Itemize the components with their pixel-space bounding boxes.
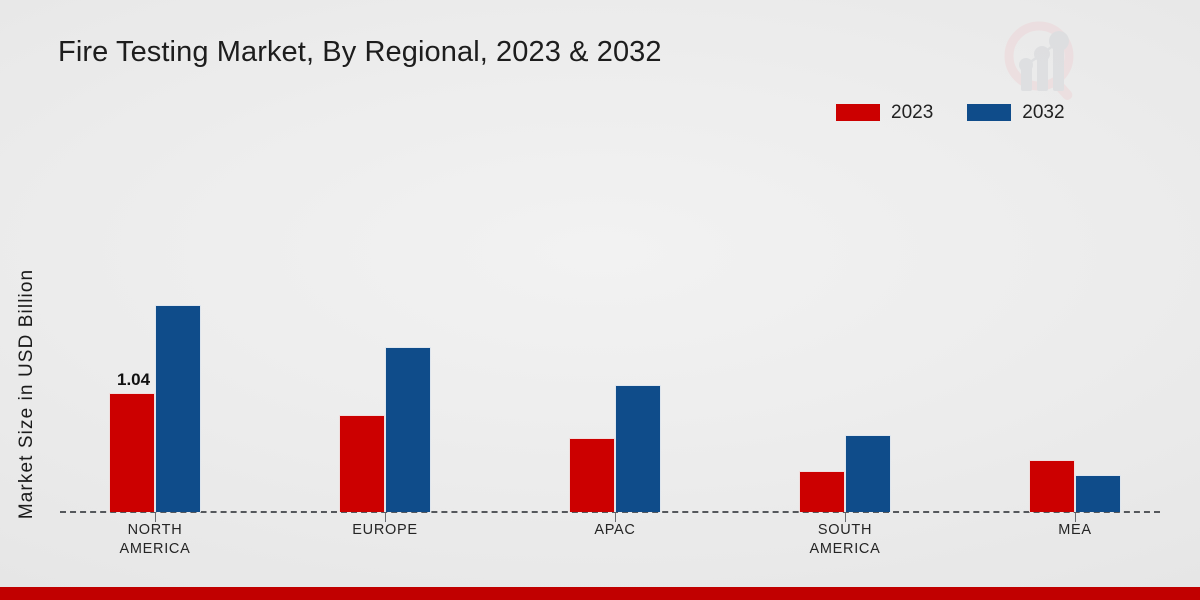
- x-axis-label-south-america: SOUTH AMERICA: [755, 521, 935, 559]
- x-axis-label-mea: MEA: [985, 521, 1165, 540]
- bar-2032-apac[interactable]: [615, 385, 661, 512]
- bar-2023-south-america[interactable]: [799, 471, 845, 512]
- x-axis-label-line: AMERICA: [65, 540, 245, 559]
- x-axis-label-line: NORTH: [65, 521, 245, 540]
- x-axis-label-north-america: NORTH AMERICA: [65, 521, 245, 559]
- x-axis-label-apac: APAC: [525, 521, 705, 540]
- chart-canvas: Fire Testing Market, By Regional, 2023 &…: [0, 0, 1200, 600]
- bar-2023-mea[interactable]: [1029, 460, 1075, 512]
- bar-2032-mea[interactable]: [1075, 475, 1121, 512]
- x-axis-label-line: MEA: [985, 521, 1165, 540]
- bar-2023-north-america[interactable]: [109, 393, 155, 512]
- x-axis-label-line: AMERICA: [755, 540, 935, 559]
- bar-value-label-north-america-2023: 1.04: [117, 370, 150, 390]
- bar-2023-europe[interactable]: [339, 415, 385, 512]
- x-axis-label-line: APAC: [525, 521, 705, 540]
- x-axis-label-line: SOUTH: [755, 521, 935, 540]
- plot-area: 1.04 NORTH AMERICA EUROPE APAC: [0, 0, 1200, 600]
- bottom-accent-bar: [0, 587, 1200, 600]
- x-axis-label-line: EUROPE: [295, 521, 475, 540]
- bar-2023-apac[interactable]: [569, 438, 615, 512]
- bar-2032-north-america[interactable]: [155, 305, 201, 512]
- x-axis-label-europe: EUROPE: [295, 521, 475, 540]
- bar-2032-europe[interactable]: [385, 347, 431, 512]
- bar-2032-south-america[interactable]: [845, 435, 891, 512]
